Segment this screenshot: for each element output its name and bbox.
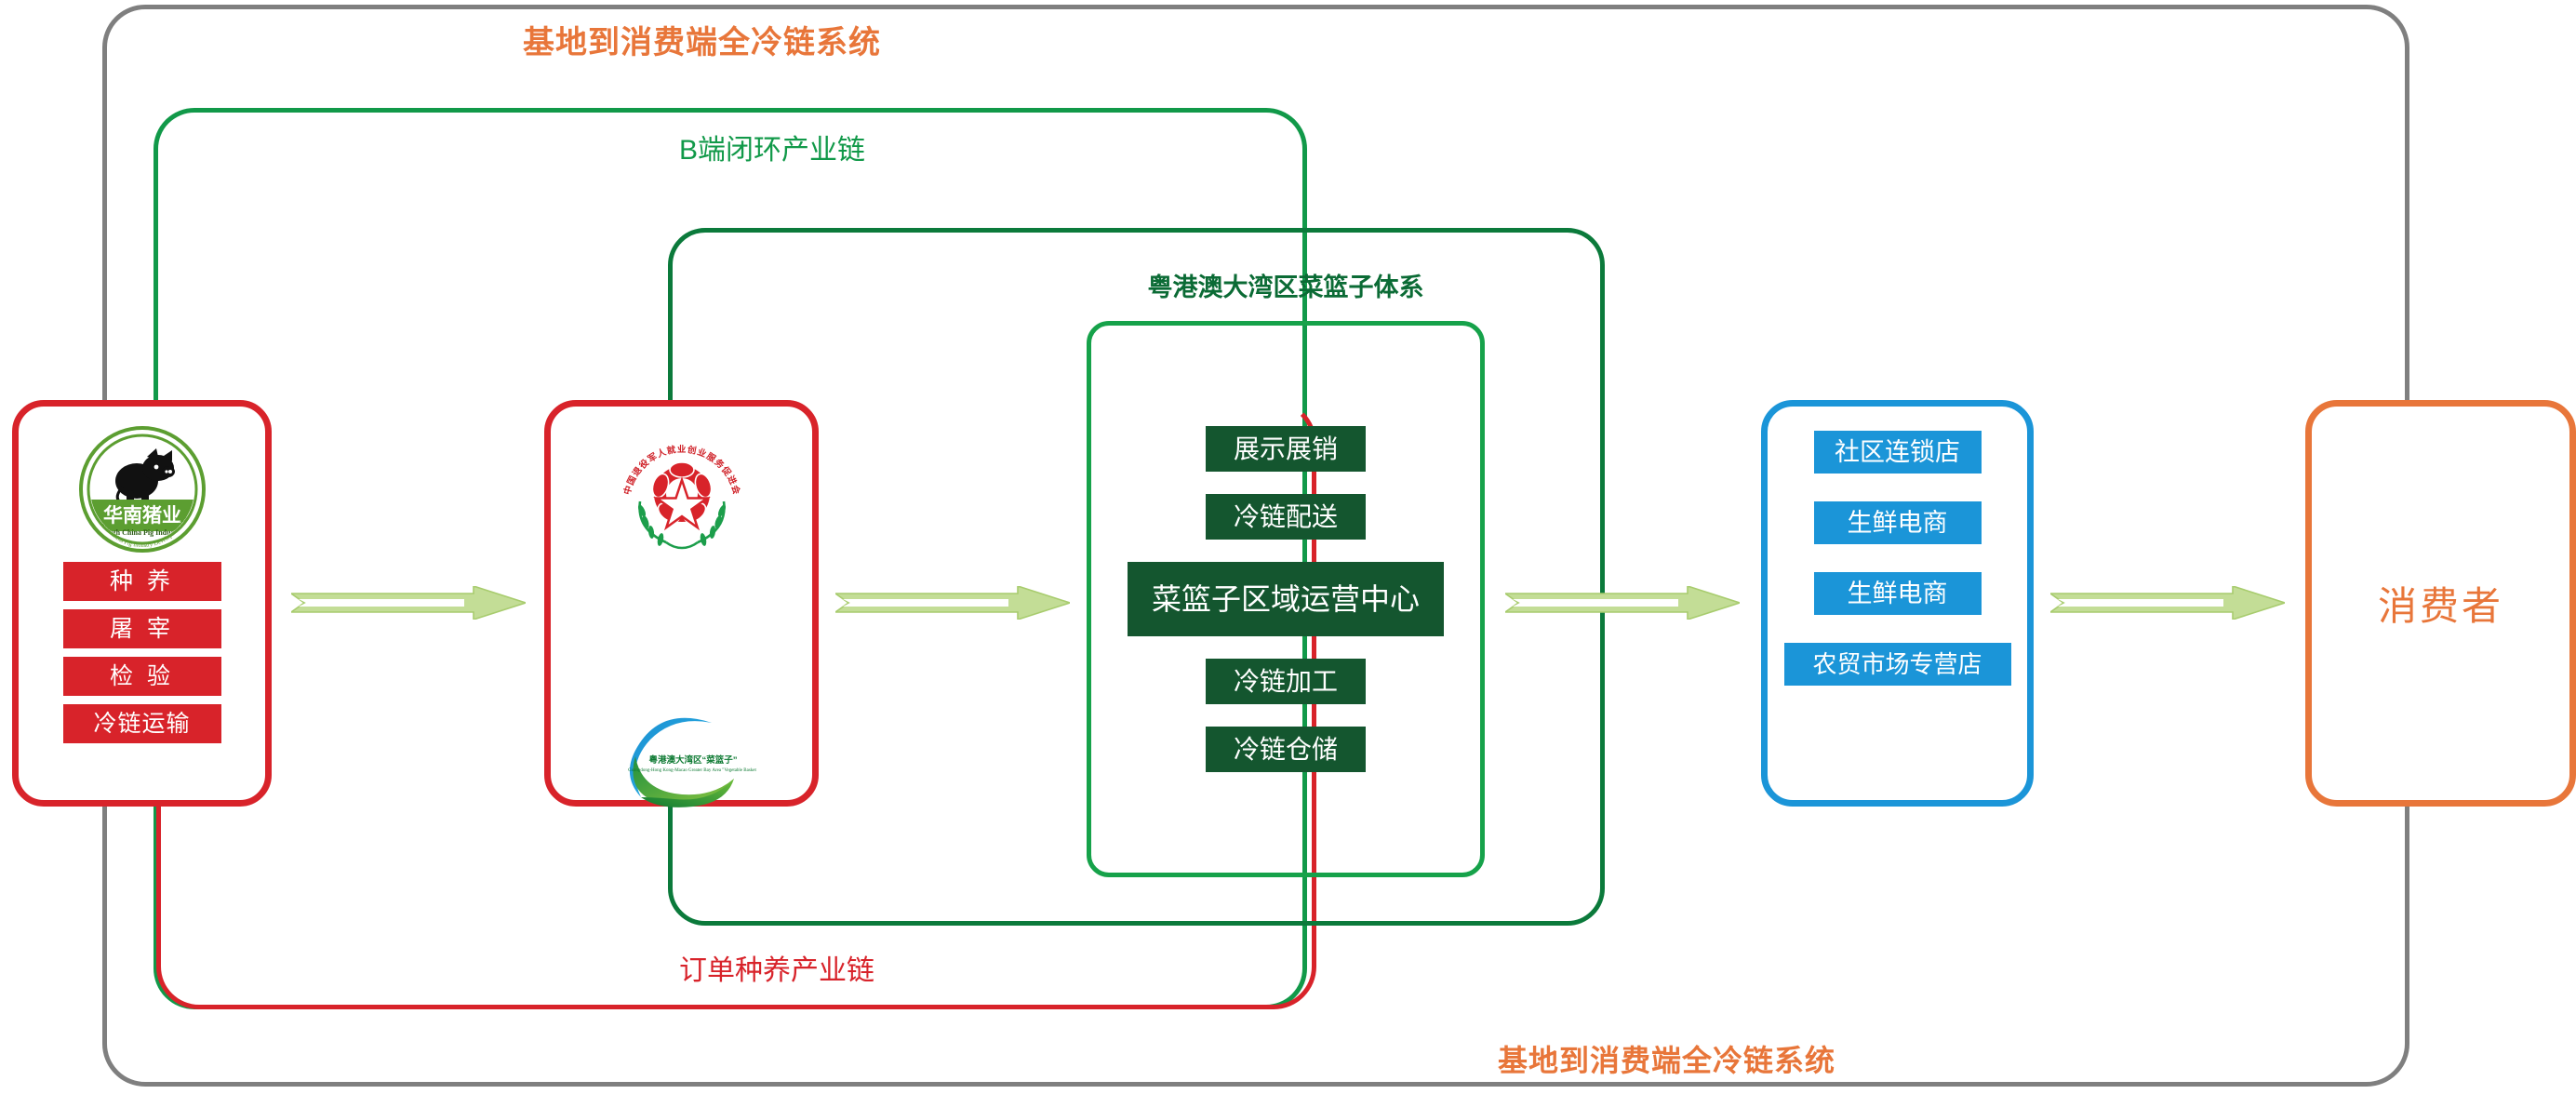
page-title-top: 基地到消费端全冷链系统 <box>0 17 2576 62</box>
basket-system-inner-frame: 展示展销 冷链配送 菜篮子区域运营中心 冷链加工 冷链仓储 <box>1087 321 1485 877</box>
production-base-card[interactable]: 华南猪业 South China Pig Industry South Chin… <box>12 400 272 807</box>
retail-tag-farmers-market-store[interactable]: 农贸市场专营店 <box>1784 643 2011 686</box>
diagram-canvas: 基地到消费端全冷链系统 B端闭环产业链 订单种养产业链 基地到消费端全冷链系统 <box>0 0 2576 1094</box>
basket-item-cold-chain-storage[interactable]: 冷链仓储 <box>1206 727 1366 772</box>
greater-bay-area-vegetable-basket-logo: 粤港澳大湾区“菜篮子” Guangdong-Hong Kong-Macao Gr… <box>607 710 756 810</box>
retail-tag-fresh-ecommerce-1[interactable]: 生鲜电商 <box>1814 501 1982 544</box>
arrow-basket-to-retail <box>1505 586 1740 620</box>
basket-item-cold-chain-processing[interactable]: 冷链加工 <box>1206 659 1366 704</box>
arrow-retail-to-consumer <box>2050 586 2285 620</box>
basket-item-cold-chain-delivery[interactable]: 冷链配送 <box>1206 494 1366 540</box>
consumer-card[interactable]: 消费者 <box>2305 400 2576 807</box>
retail-tag-fresh-ecommerce-2[interactable]: 生鲜电商 <box>1814 572 1982 615</box>
label-b-end-chain: B端闭环产业链 <box>679 127 865 167</box>
basket-item-regional-operation-center[interactable]: 菜篮子区域运营中心 <box>1128 562 1444 636</box>
svg-text:粤港澳大湾区“菜篮子”: 粤港澳大湾区“菜篮子” <box>648 754 737 766</box>
certification-card[interactable]: 中国退役军人就业创业服务促进会 <box>544 400 819 807</box>
arrow-base-to-cert <box>291 586 526 620</box>
page-title-bottom: 基地到消费端全冷链系统 <box>1498 1037 1835 1080</box>
south-china-pig-industry-logo: 华南猪业 South China Pig Industry South Chin… <box>78 425 207 554</box>
retail-channel-card[interactable]: 社区连锁店 生鲜电商 生鲜电商 农贸市场专营店 <box>1761 400 2034 807</box>
svg-text:Guangdong-Hong Kong-Macao Grea: Guangdong-Hong Kong-Macao Greater Bay Ar… <box>628 768 756 773</box>
label-order-chain: 订单种养产业链 <box>679 947 874 988</box>
base-tag-inspection[interactable]: 检 验 <box>63 657 221 696</box>
basket-item-exhibition[interactable]: 展示展销 <box>1206 426 1366 472</box>
base-tag-cold-chain-transport[interactable]: 冷链运输 <box>63 704 221 743</box>
basket-system-title: 粤港澳大湾区菜篮子体系 <box>1087 267 1485 303</box>
veterans-employment-association-logo: 中国退役军人就业创业服务促进会 <box>612 431 752 570</box>
base-tag-breeding[interactable]: 种 养 <box>63 562 221 601</box>
retail-tag-community-chain-store[interactable]: 社区连锁店 <box>1814 431 1982 474</box>
consumer-label: 消费者 <box>2378 575 2503 632</box>
base-tag-slaughter[interactable]: 屠 宰 <box>63 609 221 648</box>
arrow-cert-to-basket <box>835 586 1070 620</box>
page-title-top-text: 基地到消费端全冷链系统 <box>523 25 881 60</box>
svg-text:华南猪业: 华南猪业 <box>103 504 181 527</box>
